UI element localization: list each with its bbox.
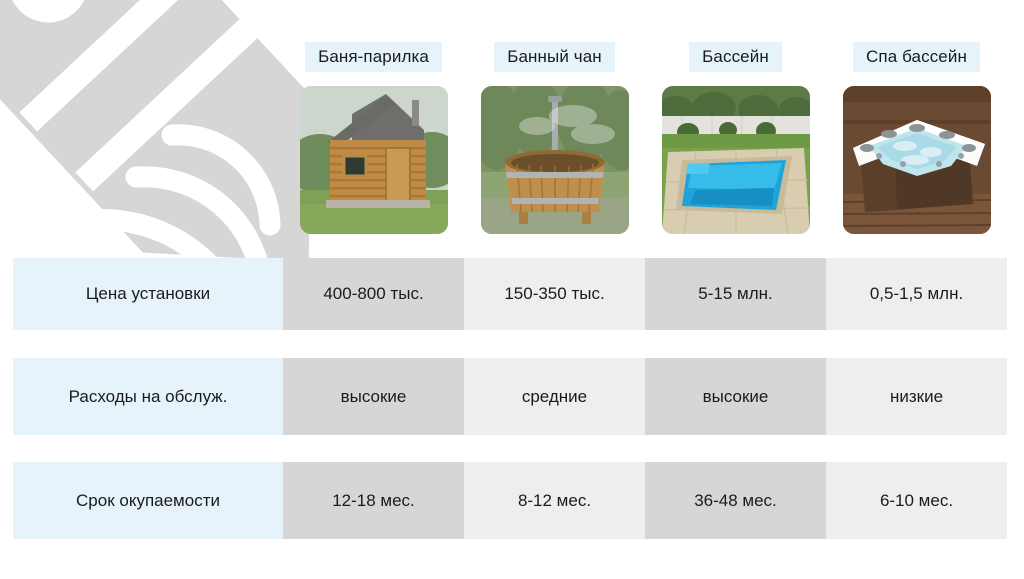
cell-maintenance-bassein: высокие [645,358,826,435]
comparison-infographic: Баня-парилка Банный чан Бассейн Спа басс… [0,0,1024,579]
cell-maintenance-spa: низкие [826,358,1007,435]
header-cell-2: Банный чан [464,42,645,72]
row-label-maintenance: Расходы на обслуж. [13,358,283,435]
column-header-spa-bassein: Спа бассейн [853,42,980,72]
column-header-bassein: Бассейн [689,42,782,72]
row-label-price: Цена установки [13,258,283,330]
column-header-banny-chan: Банный чан [494,42,615,72]
swimming-pool-photo [662,86,810,234]
table-header-row: Баня-парилка Банный чан Бассейн Спа басс… [283,42,1007,72]
photo-cell-3 [645,84,826,236]
log-sauna-photo [300,86,448,234]
table-row: Срок окупаемости 12-18 мес. 8-12 мес. 36… [0,462,1024,539]
row-label-payback: Срок окупаемости [13,462,283,539]
table-row: Расходы на обслуж. высокие средние высок… [0,358,1024,435]
cell-maintenance-banya: высокие [283,358,464,435]
header-cell-4: Спа бассейн [826,42,1007,72]
spa-jacuzzi-photo [843,86,991,234]
row-label-cell: Цена установки [0,258,283,330]
cell-payback-banya: 12-18 мес. [283,462,464,539]
cell-payback-chan: 8-12 мес. [464,462,645,539]
cell-payback-bassein: 36-48 мес. [645,462,826,539]
table-photo-row [283,84,1007,236]
photo-cell-2 [464,84,645,236]
header-cell-3: Бассейн [645,42,826,72]
photo-cell-4 [826,84,1007,236]
cell-price-banya: 400-800 тыс. [283,258,464,330]
cell-payback-spa: 6-10 мес. [826,462,1007,539]
cell-price-spa: 0,5-1,5 млн. [826,258,1007,330]
cell-price-bassein: 5-15 млн. [645,258,826,330]
row-label-cell: Расходы на обслуж. [0,358,283,435]
comparison-table: Баня-парилка Банный чан Бассейн Спа басс… [0,0,1024,579]
cell-maintenance-chan: средние [464,358,645,435]
column-header-banya-parilka: Баня-парилка [305,42,442,72]
cell-price-chan: 150-350 тыс. [464,258,645,330]
photo-cell-1 [283,84,464,236]
row-label-cell: Срок окупаемости [0,462,283,539]
header-cell-1: Баня-парилка [283,42,464,72]
wooden-hot-tub-photo [481,86,629,234]
table-row: Цена установки 400-800 тыс. 150-350 тыс.… [0,258,1024,330]
